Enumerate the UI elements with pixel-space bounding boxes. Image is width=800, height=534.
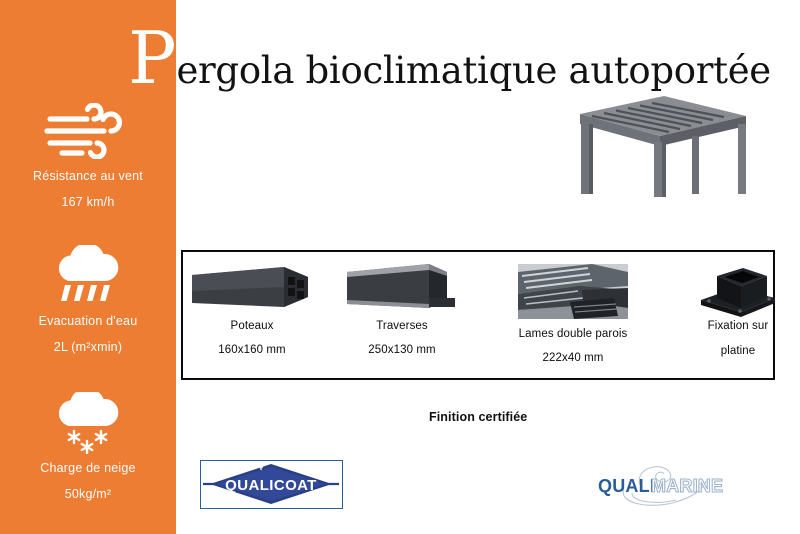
component-card-lames: Lames double parois 222x40 mm [497,260,649,364]
spec-label: Résistance au vent [0,169,176,183]
spec-water-evacuation: Evacuation d'eau 2L (m²xmin) [0,245,176,354]
page-title: P ergola bioclimatique autoportée [128,22,771,94]
component-name: Poteaux [186,320,318,332]
qualimarine-logo-text-bold: QUALI [598,476,655,496]
component-card-traverses: Traverses 250x130 mm [336,258,468,356]
component-name: Traverses [336,320,468,332]
component-card-fixation: Fixation sur platine [688,258,788,357]
page-title-initial: P [128,22,175,94]
base-plate-photo [688,258,788,320]
spec-value: 50kg/m² [0,487,176,501]
spec-label: Charge de neige [0,461,176,475]
qualicoat-logo-text: QUALICOAT [225,477,317,494]
beam-profile-photo [336,258,468,320]
component-dimension: 250x130 mm [336,344,468,356]
spec-label: Evacuation d'eau [0,314,176,328]
rain-cloud-icon [0,245,176,307]
spec-wind-resistance: Résistance au vent 167 km/h [0,100,176,209]
component-name: Fixation sur [688,320,788,332]
wind-icon [0,100,176,162]
poster-page: Résistance au vent 167 km/h Evacuation d… [0,0,800,534]
spec-value: 2L (m²xmin) [0,340,176,354]
qualimarine-logo: QUALI MARINE [588,459,738,509]
component-dimension: 160x160 mm [186,344,318,356]
certification-heading: Finition certifiée [429,410,527,424]
component-dimension: 222x40 mm [497,352,649,364]
louvre-slats-photo [497,260,649,322]
spec-value: 167 km/h [0,195,176,209]
post-profile-photo [186,258,318,320]
qualimarine-logo-text-light: MARINE [651,476,723,496]
qualicoat-logo: QUALICOAT [200,460,343,509]
spec-snow-load: Charge de neige 50kg/m² [0,392,176,501]
component-dimension: platine [688,345,788,357]
component-name: Lames double parois [497,328,649,340]
component-card-poteaux: Poteaux 160x160 mm [186,258,318,356]
pergola-photo [568,86,750,200]
snow-cloud-icon [0,392,176,454]
